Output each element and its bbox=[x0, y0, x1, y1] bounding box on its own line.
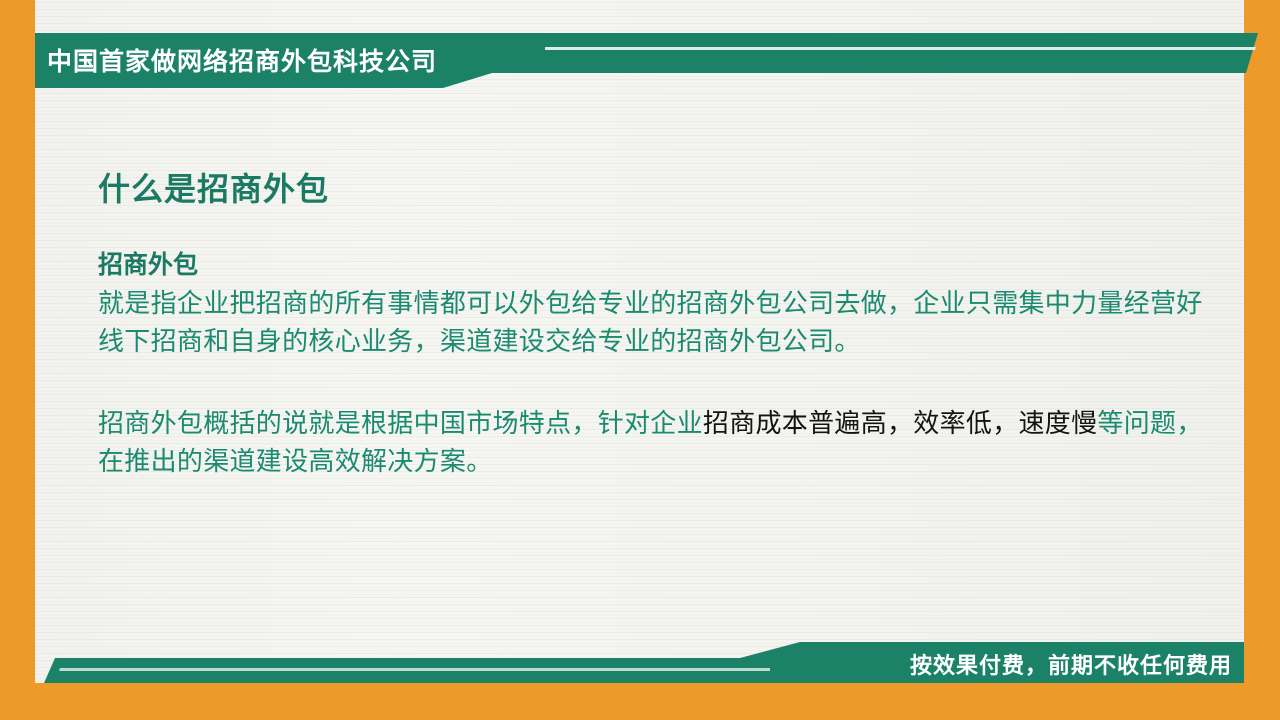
body-paragraph-1: 就是指企业把招商的所有事情都可以外包给专业的招商外包公司去做，企业只需集中力量经… bbox=[98, 284, 1228, 360]
paragraph-2-emphasis: 招商成本普遍高，效率低，速度慢 bbox=[703, 408, 1098, 438]
content-area: 什么是招商外包 招商外包 就是指企业把招商的所有事情都可以外包给专业的招商外包公… bbox=[98, 170, 1228, 481]
slide-canvas: 中国首家做网络招商外包科技公司 什么是招商外包 招商外包 就是指企业把招商的所有… bbox=[0, 0, 1280, 720]
header-tagline: 中国首家做网络招商外包科技公司 bbox=[47, 42, 437, 78]
paragraph-2-lead: 招商外包概括的说就是根据中国市场特点，针对企业 bbox=[98, 408, 703, 438]
section-subheading: 招商外包 bbox=[98, 250, 1228, 281]
body-paragraph-2: 招商外包概括的说就是根据中国市场特点，针对企业招商成本普遍高，效率低，速度慢等问… bbox=[98, 404, 1228, 480]
page-title: 什么是招商外包 bbox=[98, 170, 1228, 208]
footer-tagline: 按效果付费，前期不收任何费用 bbox=[910, 648, 1232, 680]
